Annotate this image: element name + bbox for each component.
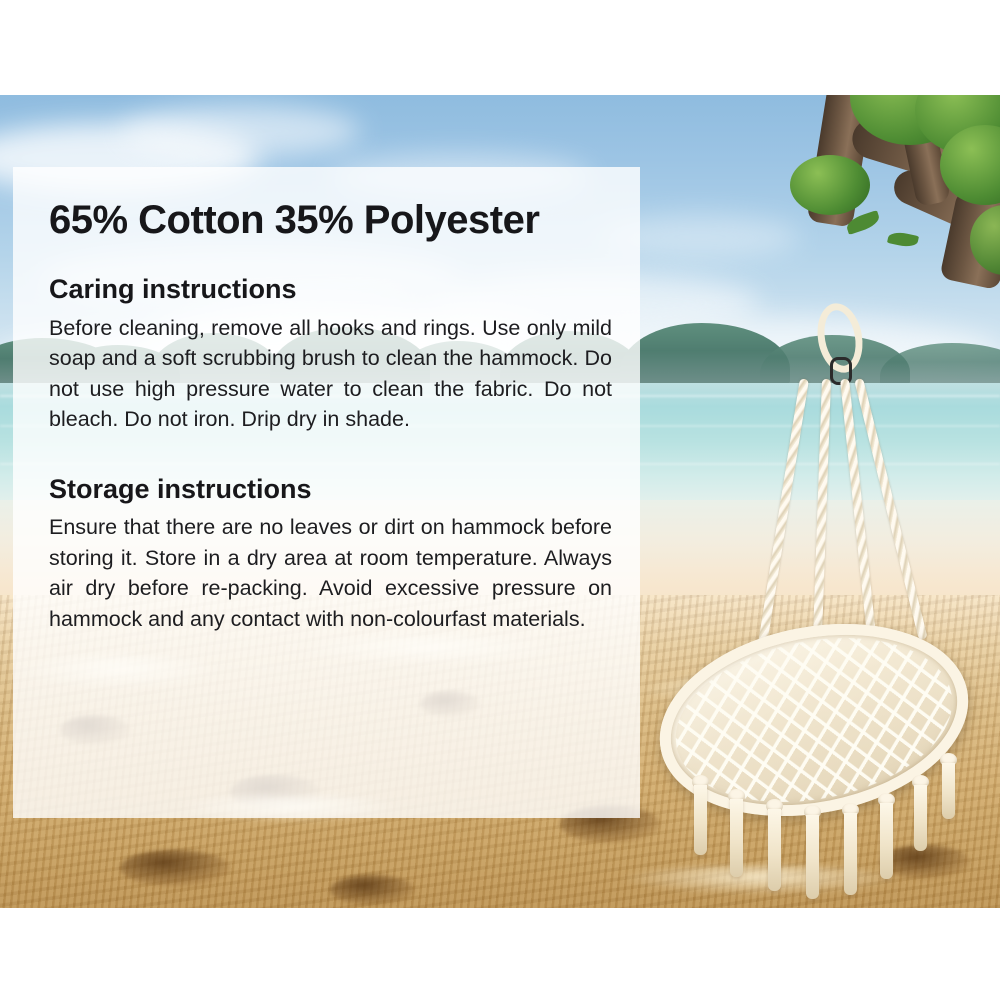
- storage-instructions-heading: Storage instructions: [49, 475, 612, 505]
- macrame-hanging-chair: [640, 155, 1000, 855]
- frame-bottom-border: [0, 908, 1000, 1000]
- storage-instructions-body: Ensure that there are no leaves or dirt …: [49, 512, 612, 634]
- caring-instructions-body: Before cleaning, remove all hooks and ri…: [49, 313, 612, 435]
- frame-top-border: [0, 0, 1000, 95]
- hanging-rope: [756, 378, 809, 658]
- info-panel: 65% Cotton 35% Polyester Caring instruct…: [13, 167, 640, 818]
- caring-instructions-heading: Caring instructions: [49, 275, 612, 305]
- page-title: 65% Cotton 35% Polyester: [49, 199, 612, 241]
- cloud: [120, 105, 360, 157]
- product-image: 65% Cotton 35% Polyester Caring instruct…: [0, 0, 1000, 1000]
